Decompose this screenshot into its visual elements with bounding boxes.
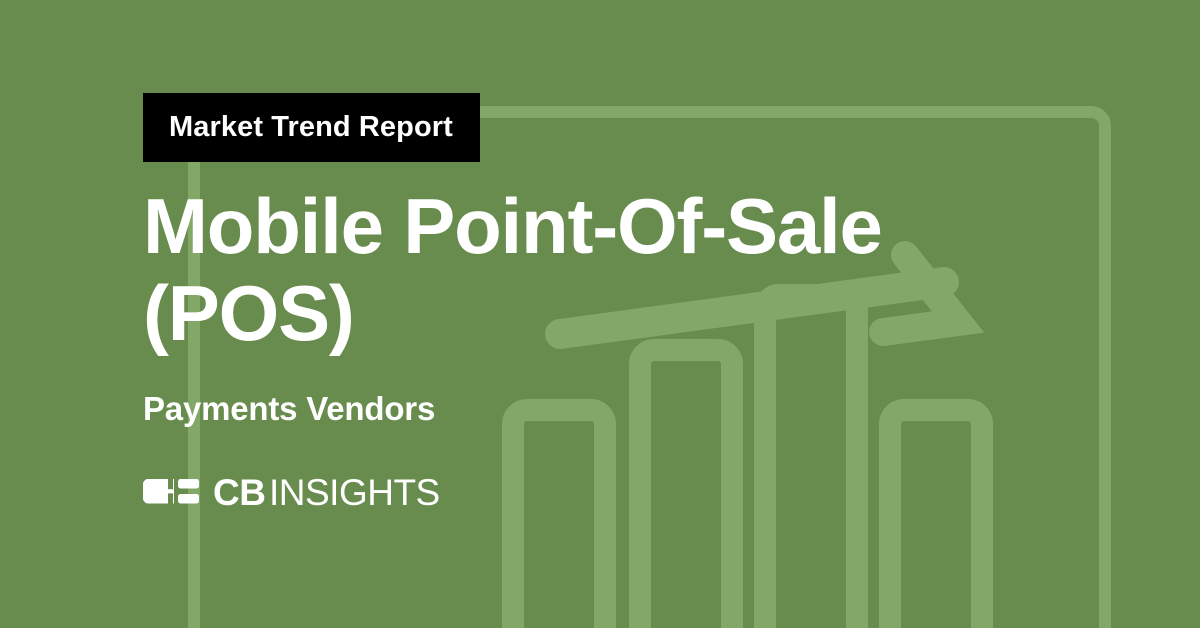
page-title-line-1: Mobile Point-Of-Sale	[143, 182, 882, 270]
report-type-badge-label: Market Trend Report	[169, 113, 453, 142]
market-trend-report-poster: Market Trend Report Mobile Point-Of-Sale…	[0, 0, 1200, 628]
cb-insights-wordmark-bold: CB	[213, 475, 265, 513]
poster-content: Market Trend Report Mobile Point-Of-Sale…	[143, 0, 1103, 628]
cb-insights-logo: CB INSIGHTS	[143, 470, 445, 520]
page-title-line-2: (POS)	[143, 269, 354, 357]
cb-insights-mark-icon	[143, 475, 199, 515]
page-subtitle: Payments Vendors	[143, 389, 435, 429]
cb-insights-wordmark: CB INSIGHTS	[213, 475, 445, 515]
cb-insights-wordmark-light: INSIGHTS	[269, 475, 440, 513]
report-type-badge: Market Trend Report	[143, 93, 480, 162]
page-title: Mobile Point-Of-Sale(POS)	[143, 183, 1043, 358]
